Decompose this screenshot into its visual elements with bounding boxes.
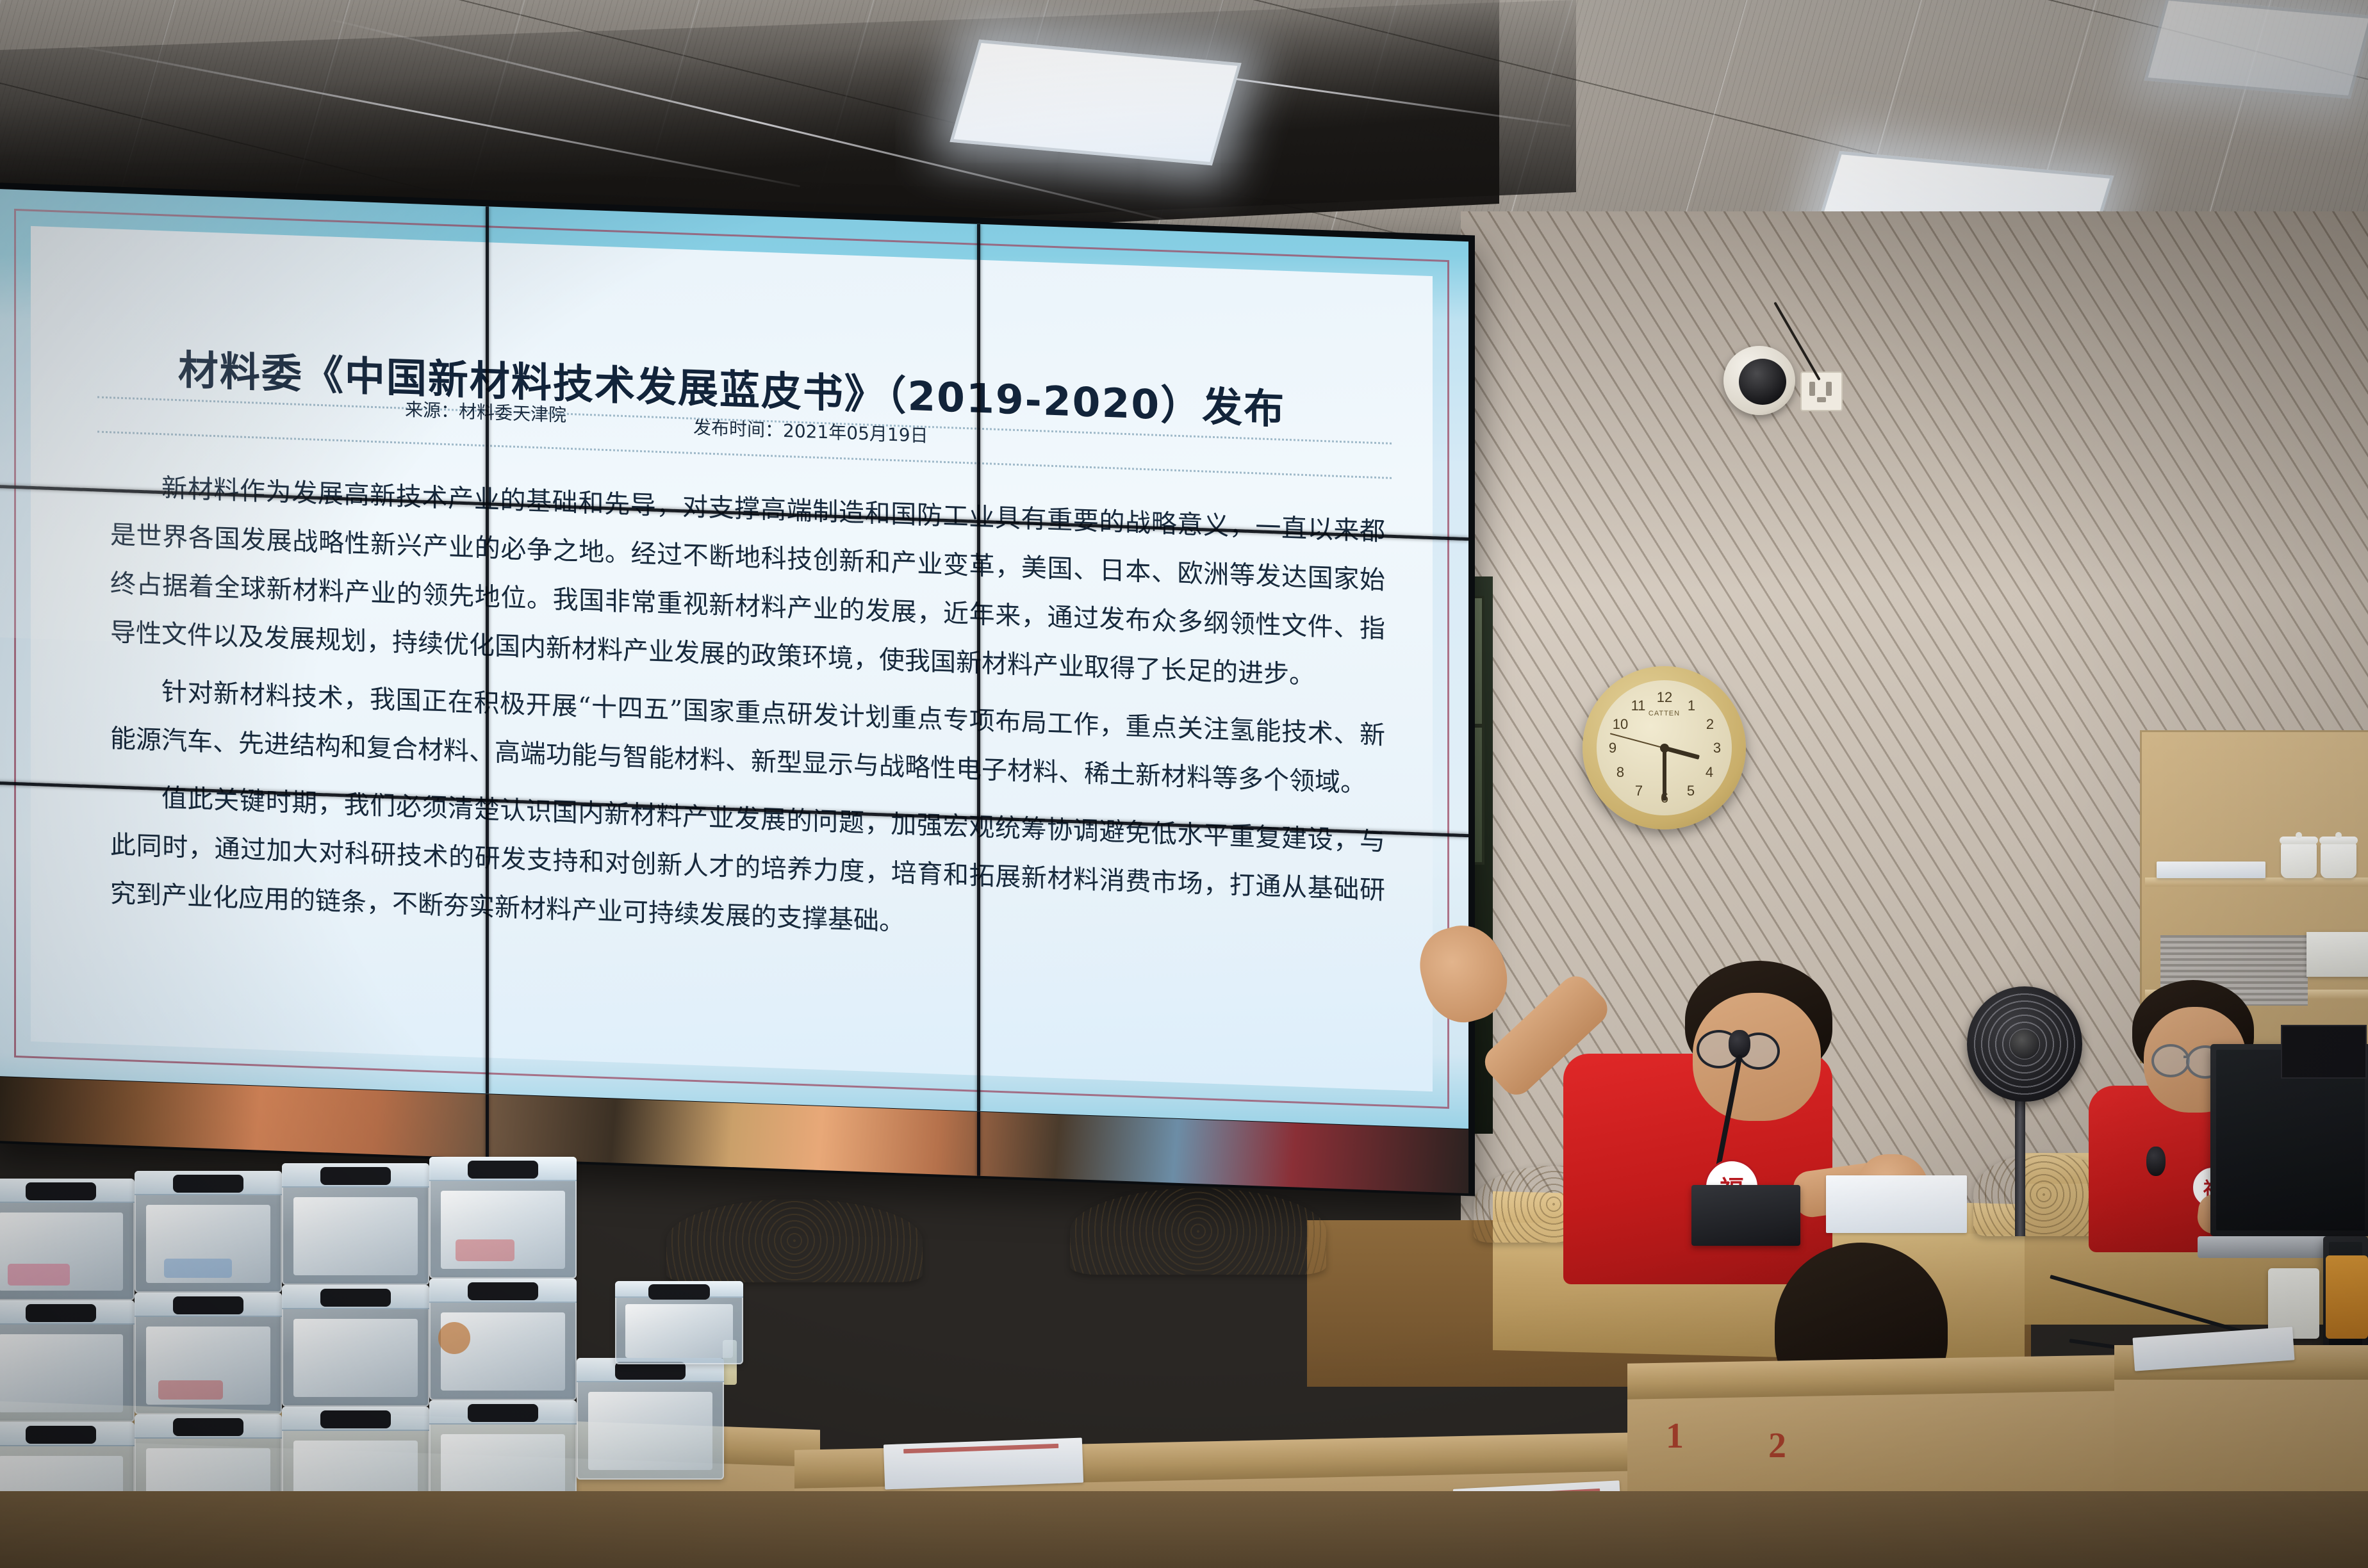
bin-handle[interactable] bbox=[320, 1289, 391, 1307]
teacup-2 bbox=[2321, 842, 2356, 878]
bin-handle[interactable] bbox=[26, 1304, 96, 1322]
storage-bin[interactable] bbox=[135, 1293, 282, 1414]
bin-handle[interactable] bbox=[648, 1284, 710, 1300]
clock-hour-hand bbox=[1664, 746, 1700, 759]
bin-contents bbox=[0, 1334, 123, 1412]
storage-bin[interactable] bbox=[429, 1157, 577, 1278]
dome-camera-icon bbox=[1723, 346, 1795, 415]
clock-number-11: 11 bbox=[1629, 699, 1648, 713]
room-photo-scene: CATTEN 12 1 2 3 4 5 6 7 8 9 10 11 bbox=[0, 0, 2368, 1568]
shelf-papers bbox=[2157, 862, 2265, 878]
clock-brand-label: CATTEN bbox=[1649, 710, 1680, 717]
floor bbox=[0, 1491, 2368, 1568]
clock-number-10: 10 bbox=[1611, 717, 1630, 731]
outlet-slot-ground bbox=[1817, 397, 1826, 402]
bin-item-red bbox=[158, 1380, 223, 1400]
bin-contents bbox=[293, 1319, 417, 1397]
bin-handle[interactable] bbox=[26, 1182, 96, 1200]
operator-glasses-left bbox=[2151, 1044, 2190, 1077]
bin-item-orange-label bbox=[438, 1322, 471, 1353]
clock-center-pin bbox=[1660, 744, 1669, 753]
storage-bin[interactable] bbox=[0, 1179, 135, 1300]
clock-number-1: 1 bbox=[1682, 699, 1701, 713]
outlet-slot-right bbox=[1826, 382, 1832, 396]
wall-clock: CATTEN 12 1 2 3 4 5 6 7 8 9 10 11 bbox=[1583, 666, 1746, 829]
bin-handle[interactable] bbox=[26, 1426, 96, 1444]
bin-handle[interactable] bbox=[173, 1175, 243, 1193]
video-wall-seam-v2 bbox=[977, 224, 980, 1111]
pedestal-fan[interactable] bbox=[1967, 986, 2082, 1102]
clock-number-8: 8 bbox=[1611, 765, 1630, 780]
handout-heading-3 bbox=[903, 1444, 1058, 1453]
presentation-slide: 材料委《中国新材料技术发展蓝皮书》（2019-2020）发布 来源：材料委天津院… bbox=[0, 189, 1468, 1129]
storage-bin[interactable] bbox=[577, 1358, 724, 1480]
teacup-knob-2 bbox=[2335, 832, 2342, 838]
clock-number-5: 5 bbox=[1681, 784, 1700, 798]
bin-contents bbox=[293, 1197, 417, 1275]
outlet-slot-left bbox=[1809, 382, 1815, 396]
bottom-strip-seam-v2 bbox=[977, 1112, 980, 1176]
teacup-1 bbox=[2281, 842, 2317, 878]
clock-number-3: 3 bbox=[1707, 741, 1727, 755]
shelf-white-box bbox=[2306, 932, 2368, 977]
storage-bin[interactable] bbox=[429, 1278, 577, 1400]
equipment-panel bbox=[2281, 1025, 2367, 1079]
clock-number-7: 7 bbox=[1629, 784, 1649, 798]
clock-number-2: 2 bbox=[1700, 717, 1720, 731]
storage-bin[interactable] bbox=[282, 1285, 429, 1407]
storage-bin[interactable] bbox=[0, 1300, 135, 1422]
bin-handle[interactable] bbox=[320, 1410, 391, 1428]
fan-stem bbox=[2015, 1089, 2025, 1236]
camera-lens-dome bbox=[1739, 359, 1786, 405]
clock-face: CATTEN 12 1 2 3 4 5 6 7 8 9 10 11 bbox=[1597, 680, 1732, 815]
slide-body-text: 新材料作为发展高新技术产业的基础和先导，对支撑高端制造和国防工业具有重要的战略意… bbox=[110, 462, 1385, 972]
bin-handle[interactable] bbox=[468, 1404, 538, 1422]
bottom-strip-seam-v1 bbox=[486, 1094, 489, 1158]
clock-number-9: 9 bbox=[1603, 741, 1622, 755]
teacup-knob-1 bbox=[2296, 832, 2302, 838]
storage-bin[interactable] bbox=[282, 1163, 429, 1285]
bin-handle[interactable] bbox=[173, 1296, 243, 1314]
operator-glasses-bridge bbox=[2183, 1056, 2189, 1058]
orange-container[interactable] bbox=[2326, 1255, 2368, 1339]
bin-contents bbox=[588, 1392, 712, 1470]
bin-handle[interactable] bbox=[468, 1282, 538, 1300]
desk-number-1: 1 bbox=[1666, 1416, 1684, 1457]
clock-minute-hand bbox=[1663, 748, 1666, 801]
bin-contents bbox=[625, 1304, 733, 1357]
presenter-mic-capsule bbox=[1729, 1030, 1750, 1058]
video-wall-seam-v1 bbox=[486, 206, 489, 1093]
bin-item-pink bbox=[8, 1264, 70, 1286]
handout-stack-3[interactable] bbox=[884, 1438, 1083, 1490]
bin-item-red bbox=[456, 1239, 514, 1261]
bin-handle[interactable] bbox=[173, 1418, 243, 1436]
fan-hub bbox=[2010, 1029, 2039, 1059]
clock-number-12: 12 bbox=[1655, 690, 1674, 705]
presenter-paper-stack bbox=[1826, 1175, 1967, 1233]
rattan-chair-1[interactable] bbox=[666, 1199, 923, 1282]
shelf-board-upper bbox=[2145, 878, 2368, 886]
desk-microphone[interactable] bbox=[2146, 1147, 2166, 1176]
clock-number-4: 4 bbox=[1700, 765, 1719, 780]
lcd-video-wall[interactable]: 材料委《中国新材料技术发展蓝皮书》（2019-2020）发布 来源：材料委天津院… bbox=[0, 182, 1475, 1196]
rattan-chair-2[interactable] bbox=[1070, 1188, 1326, 1275]
bin-handle[interactable] bbox=[468, 1161, 538, 1179]
presenter-touch-panel[interactable] bbox=[1691, 1185, 1800, 1246]
storage-bin[interactable] bbox=[135, 1171, 282, 1293]
desk-number-2: 2 bbox=[1768, 1425, 1786, 1466]
bin-item-blue bbox=[164, 1259, 232, 1278]
storage-bin[interactable] bbox=[615, 1281, 743, 1364]
bin-handle[interactable] bbox=[615, 1362, 686, 1380]
bin-handle[interactable] bbox=[320, 1167, 391, 1185]
wall-outlet[interactable] bbox=[1800, 372, 1843, 411]
